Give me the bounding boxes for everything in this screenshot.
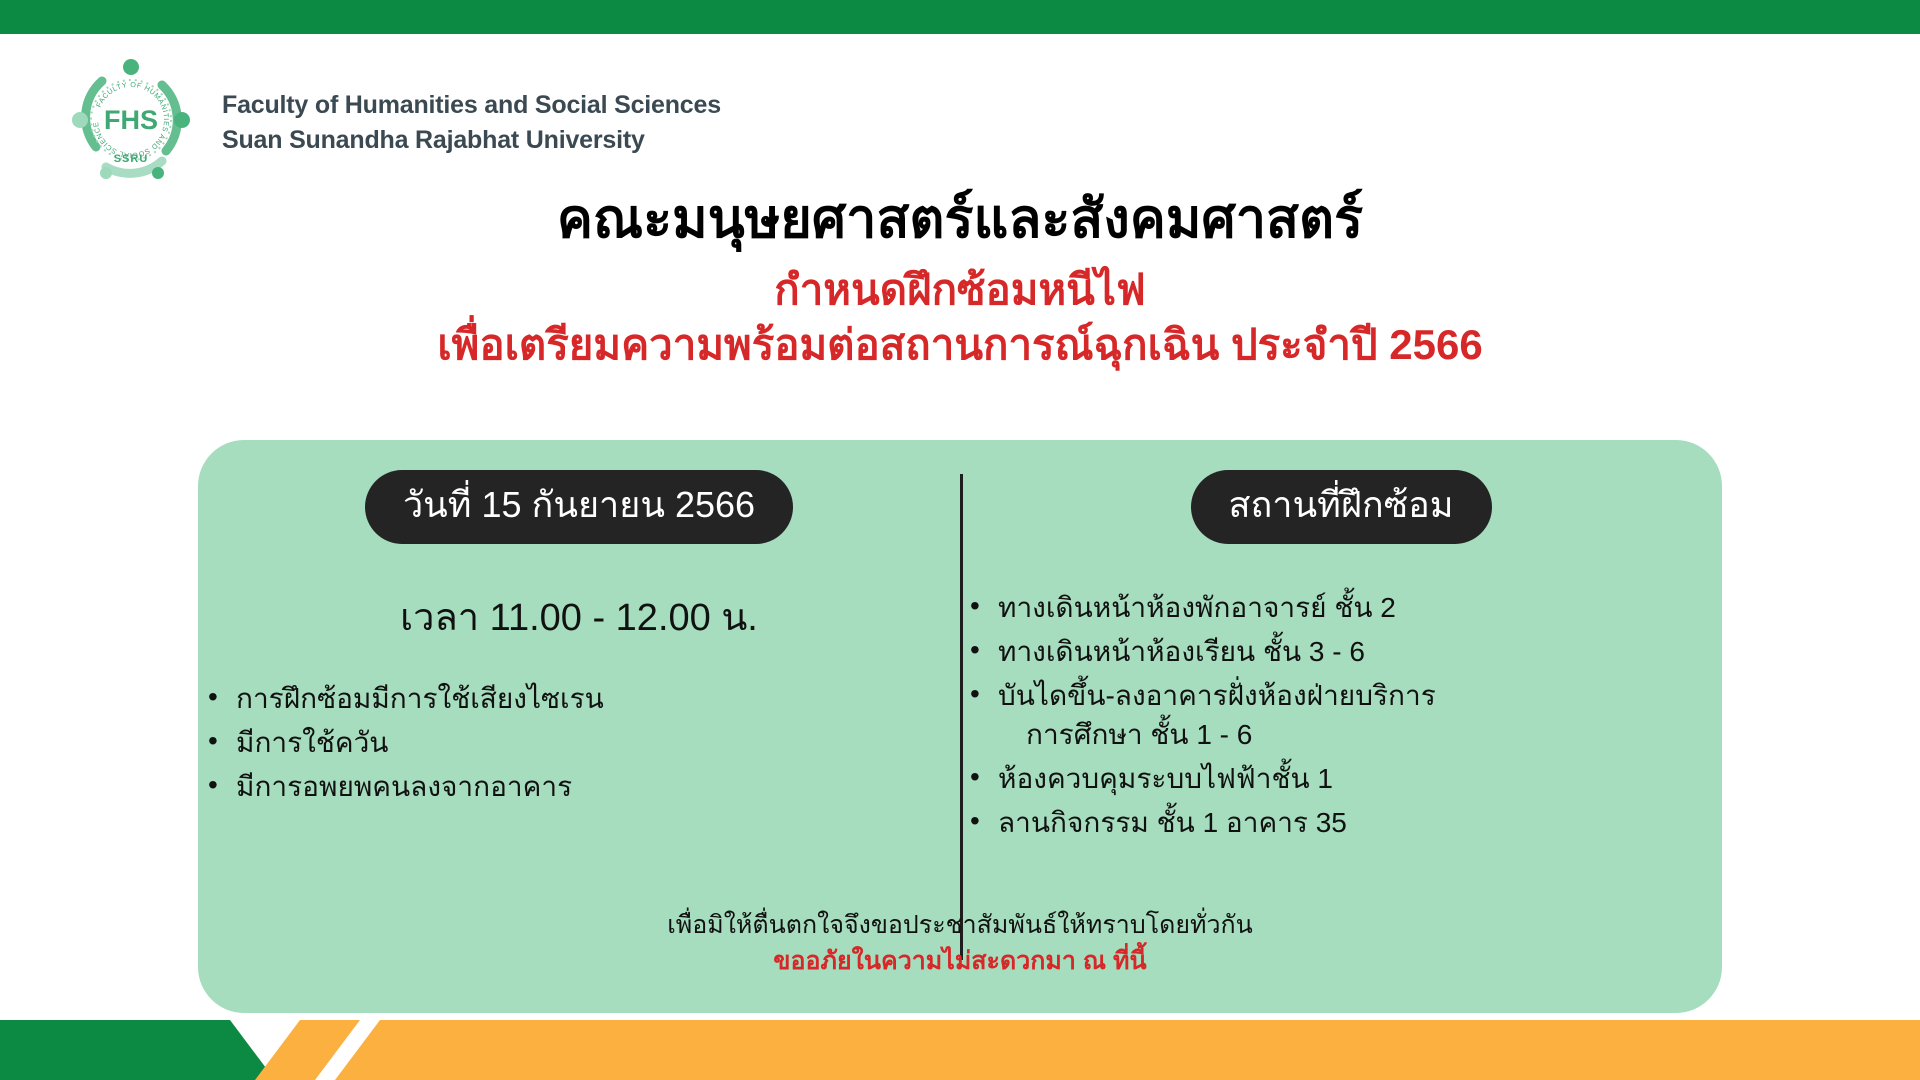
list-item: บันไดขึ้น-ลงอาคารฝั่งห้องฝ่ายบริการ การศ… — [970, 676, 1712, 756]
left-bullet-list: การฝึกซ้อมมีการใช้เสียงไซเรน มีการใช้ควั… — [208, 679, 950, 806]
footer-note: เพื่อมิให้ตื่นตกใจจึงขอประชาสัมพันธ์ให้ท… — [198, 907, 1722, 943]
time-text: เวลา 11.00 - 12.00 น. — [208, 586, 950, 647]
fhs-logo: FACULTY OF HUMANITIES AND SOCIAL SCIENCE… — [66, 55, 196, 185]
page-title: คณะมนุษยศาสตร์และสังคมศาสตร์ — [0, 188, 1920, 252]
info-panel: วันที่ 15 กันยายน 2566 เวลา 11.00 - 12.0… — [198, 440, 1722, 1013]
fhs-logo-icon: FACULTY OF HUMANITIES AND SOCIAL SCIENCE… — [66, 55, 196, 185]
list-item: ลานกิจกรรม ชั้น 1 อาคาร 35 — [970, 803, 1712, 843]
panel-footer: เพื่อมิให้ตื่นตกใจจึงขอประชาสัมพันธ์ให้ท… — [198, 907, 1722, 980]
list-item-continuation: การศึกษา ชั้น 1 - 6 — [998, 715, 1712, 755]
location-badge: สถานที่ฝึกซ้อม — [1191, 470, 1492, 544]
top-green-bar — [0, 0, 1920, 34]
bottom-stripes-icon — [0, 1000, 1920, 1080]
subtitle-line-1: กำหนดฝึกซ้อมหนีไฟ — [0, 262, 1920, 317]
header-text-block: Faculty of Humanities and Social Science… — [222, 85, 721, 155]
list-item: ห้องควบคุมระบบไฟฟ้าชั้น 1 — [970, 759, 1712, 799]
faculty-name-line: Faculty of Humanities and Social Science… — [222, 91, 721, 120]
list-item: ทางเดินหน้าห้องพักอาจารย์ ชั้น 2 — [970, 588, 1712, 628]
right-bullet-list: ทางเดินหน้าห้องพักอาจารย์ ชั้น 2 ทางเดิน… — [970, 588, 1712, 843]
bottom-decoration — [0, 1000, 1920, 1080]
subtitle-line-2: เพื่อเตรียมความพร้อมต่อสถานการณ์ฉุกเฉิน … — [0, 317, 1920, 372]
list-item-text: บันไดขึ้น-ลงอาคารฝั่งห้องฝ่ายบริการ — [998, 680, 1436, 711]
title-block: คณะมนุษยศาสตร์และสังคมศาสตร์ กำหนดฝึกซ้อ… — [0, 188, 1920, 373]
svg-text:SSRU: SSRU — [114, 153, 149, 165]
list-item: มีการอพยพคนลงจากอาคาร — [208, 767, 950, 807]
university-name-line: Suan Sunandha Rajabhat University — [222, 126, 721, 155]
list-item: มีการใช้ควัน — [208, 723, 950, 763]
list-item: ทางเดินหน้าห้องเรียน ชั้น 3 - 6 — [970, 632, 1712, 672]
svg-text:FHS: FHS — [104, 105, 158, 135]
page-header: FACULTY OF HUMANITIES AND SOCIAL SCIENCE… — [66, 55, 721, 185]
date-badge: วันที่ 15 กันยายน 2566 — [365, 470, 793, 544]
footer-apology: ขออภัยในความไม่สะดวกมา ณ ที่นี้ — [198, 943, 1722, 979]
list-item: การฝึกซ้อมมีการใช้เสียงไซเรน — [208, 679, 950, 719]
